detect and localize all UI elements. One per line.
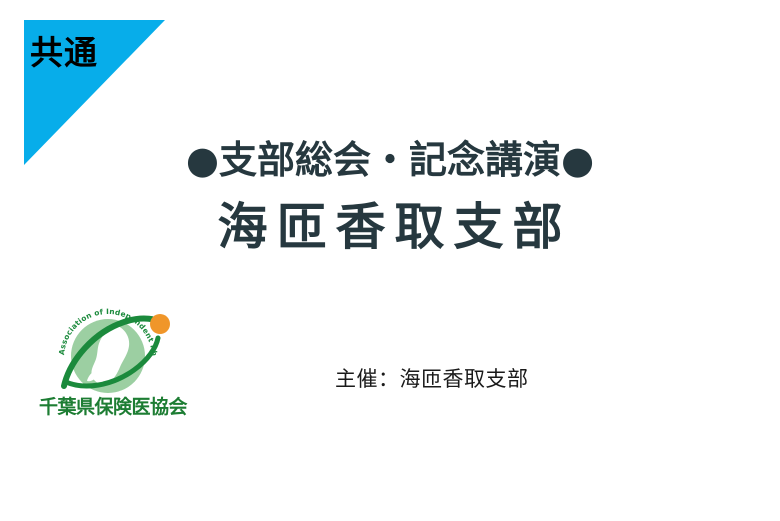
poster-canvas: 共通 ●支部総会・記念講演● 海匝香取支部 主催：海匝香取支部 [0, 0, 780, 521]
headline-block: ●支部総会・記念講演● 海匝香取支部 [0, 139, 780, 256]
ribbon-label: 共通 [30, 36, 98, 69]
branch-title: 海匝香取支部 [0, 198, 780, 256]
association-logo: Association of Independent Physicians an… [38, 308, 188, 426]
event-kicker: ●支部総会・記念講演● [0, 139, 780, 182]
organizer-line: 主催：海匝香取支部 [335, 363, 529, 393]
logo-emblem-icon: Association of Independent Physicians an… [50, 308, 176, 400]
logo-wordmark: 千葉県保険医協会 [38, 398, 188, 417]
